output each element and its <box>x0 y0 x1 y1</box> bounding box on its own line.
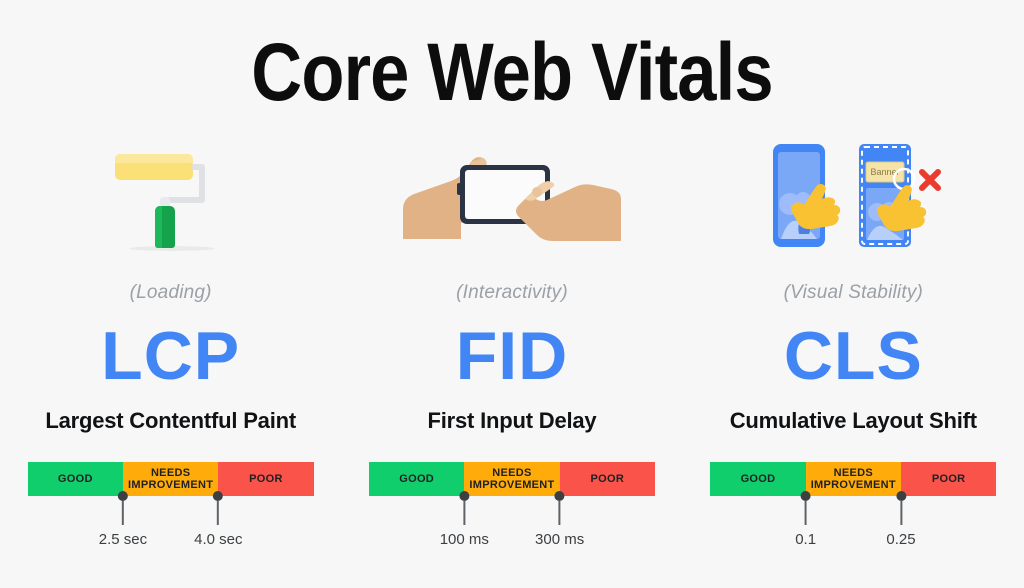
tick-stem <box>805 501 807 525</box>
tick-dot <box>213 491 223 501</box>
hands-tapping-phone-icon <box>341 130 682 260</box>
tick-dot <box>459 491 469 501</box>
fingertip <box>532 187 542 197</box>
tick-stem <box>559 501 561 525</box>
scale-segment-needs-improvement: NEEDS IMPROVEMENT <box>806 462 901 496</box>
threshold-scale: GOOD NEEDS IMPROVEMENT POOR 0.1 0.25 <box>710 462 996 558</box>
threshold-tick: 2.5 sec <box>99 496 147 548</box>
metric-fullname: First Input Delay <box>428 408 597 434</box>
metric-column-cls: Banner (Visual Stability) CLS <box>683 130 1024 570</box>
tick-label: 300 ms <box>535 531 584 548</box>
threshold-tick: 300 ms <box>535 496 584 548</box>
tick-stem <box>217 501 219 525</box>
tick-stem <box>122 501 124 525</box>
threshold-scale: GOOD NEEDS IMPROVEMENT POOR 2.5 sec 4.0 … <box>28 462 314 558</box>
tick-label: 0.25 <box>886 531 915 548</box>
metric-acronym: CLS <box>784 322 923 390</box>
error-x-icon <box>922 172 938 188</box>
page-title: Core Web Vitals <box>72 26 953 120</box>
scale-segment-good: GOOD <box>369 462 464 496</box>
paint-roller-icon <box>0 130 341 260</box>
metric-subtitle: (Visual Stability) <box>784 282 923 304</box>
tick-stem <box>900 501 902 525</box>
scale-segment-good: GOOD <box>28 462 123 496</box>
threshold-tick: 4.0 sec <box>194 496 242 548</box>
tick-label: 2.5 sec <box>99 531 147 548</box>
tick-dot <box>555 491 565 501</box>
scale-segment-needs-improvement: NEEDS IMPROVEMENT <box>464 462 559 496</box>
tick-label: 0.1 <box>795 531 816 548</box>
scale-ticks: 100 ms 300 ms <box>369 496 655 558</box>
threshold-tick: 100 ms <box>440 496 489 548</box>
scale-segment-needs-improvement: NEEDS IMPROVEMENT <box>123 462 218 496</box>
scale-segment-poor: POOR <box>560 462 655 496</box>
tick-dot <box>801 491 811 501</box>
metric-acronym: FID <box>456 322 569 390</box>
layout-shift-illustration: Banner <box>763 138 943 253</box>
roller-head-highlight <box>115 154 193 163</box>
tick-dot <box>118 491 128 501</box>
layout-shift-phones-icon: Banner <box>683 130 1024 260</box>
tick-dot <box>896 491 906 501</box>
tick-label: 4.0 sec <box>194 531 242 548</box>
scale-segment-poor: POOR <box>218 462 313 496</box>
scale-ticks: 0.1 0.25 <box>710 496 996 558</box>
tick-stem <box>463 501 465 525</box>
scale-ticks: 2.5 sec 4.0 sec <box>28 496 314 558</box>
metric-column-fid: (Interactivity) FID First Input Delay GO… <box>341 130 682 570</box>
threshold-scale: GOOD NEEDS IMPROVEMENT POOR 100 ms 300 m… <box>369 462 655 558</box>
metric-column-lcp: (Loading) LCP Largest Contentful Paint G… <box>0 130 341 570</box>
metrics-columns: (Loading) LCP Largest Contentful Paint G… <box>0 130 1024 570</box>
threshold-tick: 0.25 <box>886 496 915 548</box>
phone-side-button <box>457 183 461 195</box>
metric-subtitle: (Interactivity) <box>456 282 568 304</box>
metric-fullname: Largest Contentful Paint <box>45 408 296 434</box>
core-web-vitals-infographic: Core Web Vitals (Loading) LCP Larges <box>0 0 1024 588</box>
metric-fullname: Cumulative Layout Shift <box>730 408 977 434</box>
scale-bar: GOOD NEEDS IMPROVEMENT POOR <box>710 462 996 496</box>
scale-segment-good: GOOD <box>710 462 805 496</box>
metric-subtitle: (Loading) <box>130 282 212 304</box>
scale-bar: GOOD NEEDS IMPROVEMENT POOR <box>28 462 314 496</box>
scale-bar: GOOD NEEDS IMPROVEMENT POOR <box>369 462 655 496</box>
hands-phone-illustration <box>397 143 627 248</box>
scale-segment-poor: POOR <box>901 462 996 496</box>
threshold-tick: 0.1 <box>795 496 816 548</box>
metric-acronym: LCP <box>101 322 240 390</box>
tick-label: 100 ms <box>440 531 489 548</box>
roller-handle-highlight <box>155 206 162 248</box>
